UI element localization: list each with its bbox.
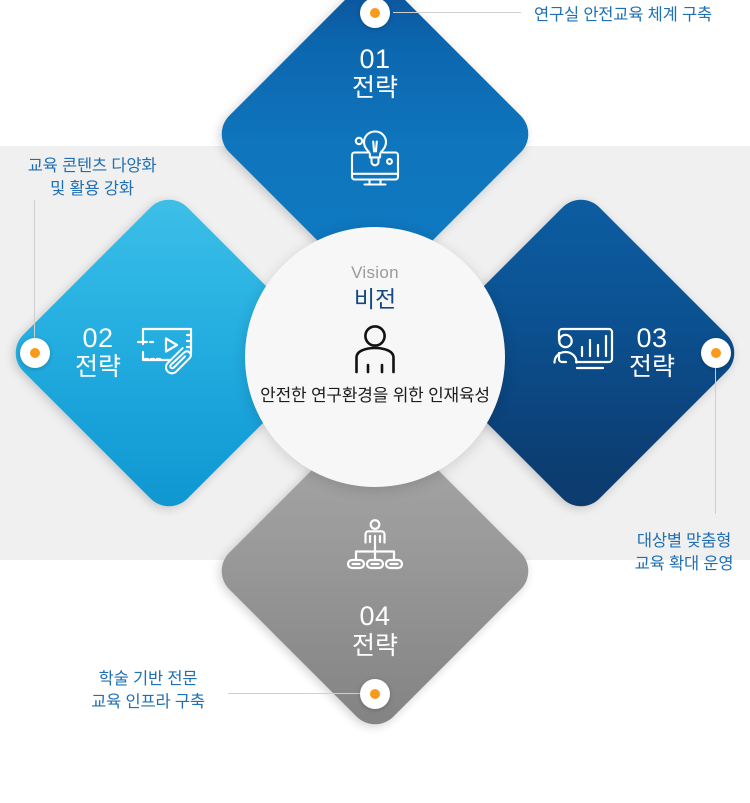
strategy-card-03-text: 03 전략 xyxy=(629,323,675,383)
video-attachment-icon xyxy=(135,322,203,385)
strategy-number-03: 03 xyxy=(636,323,667,353)
dot-core-left xyxy=(30,348,40,358)
strategy-label-04: 전략 xyxy=(352,632,398,662)
callout-label-01: 연구실 안전교육 체계 구축 xyxy=(534,4,712,27)
strategy-card-04-text: 04 전략 xyxy=(352,601,398,661)
strategy-label-03: 전략 xyxy=(629,353,675,383)
person-chart-board-icon xyxy=(549,323,615,384)
vision-kor-title: 비전 xyxy=(354,285,396,314)
strategy-number-01: 01 xyxy=(359,44,390,74)
connector-line-top xyxy=(393,12,521,13)
diagram-canvas: 01 전략 02 전략 xyxy=(0,0,750,720)
connector-dot-right xyxy=(701,338,731,368)
callout-label-03: 대상별 맞춤형 교육 확대 운영 xyxy=(622,530,746,576)
dot-core-right xyxy=(711,348,721,358)
strategy-card-04-content: 04 전략 xyxy=(259,455,491,687)
connector-line-left xyxy=(34,200,35,340)
strategy-label-02: 전략 xyxy=(75,353,121,383)
strategy-number-02: 02 xyxy=(82,323,113,353)
connector-dot-left xyxy=(20,338,50,368)
vision-description: 안전한 연구환경을 위한 인재육성 xyxy=(260,385,490,407)
strategy-card-02-text: 02 전략 xyxy=(75,323,121,383)
strategy-card-01-content: 01 전략 xyxy=(259,18,491,250)
connector-line-right xyxy=(715,366,716,514)
vision-eng-title: Vision xyxy=(351,263,399,283)
callout-label-02: 교육 콘텐츠 다양화 및 활용 강화 xyxy=(12,155,172,201)
org-chart-person-icon xyxy=(345,518,405,579)
callout-label-04: 학술 기반 전문 교육 인프라 구축 xyxy=(78,668,218,714)
connector-dot-bottom xyxy=(360,679,390,709)
person-icon xyxy=(349,324,401,379)
vision-circle: Vision 비전 안전한 연구환경을 위한 인재육성 xyxy=(245,227,505,487)
strategy-label-01: 전략 xyxy=(352,74,398,104)
monitor-lightbulb-icon xyxy=(344,130,406,195)
strategy-card-01-text: 01 전략 xyxy=(352,44,398,104)
connector-line-bottom xyxy=(228,693,362,694)
strategy-number-04: 04 xyxy=(359,601,390,631)
dot-core-top xyxy=(370,8,380,18)
dot-core-bottom xyxy=(370,689,380,699)
